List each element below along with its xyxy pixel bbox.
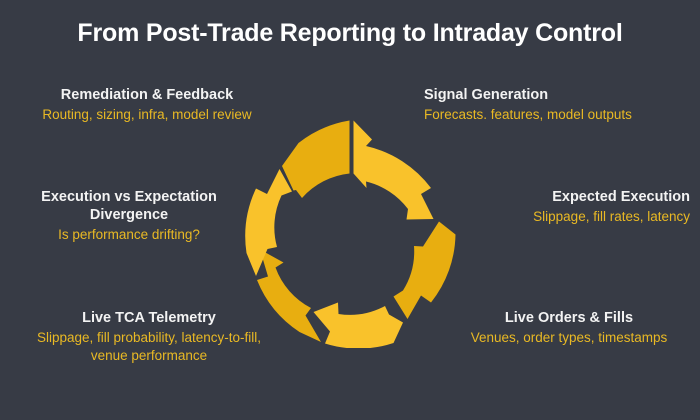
infographic-canvas: From Post-Trade Reporting to Intraday Co… bbox=[0, 0, 700, 420]
callout-orders-body: Venues, order types, timestamps bbox=[444, 329, 694, 347]
callout-tca: Live TCA Telemetry Slippage, fill probab… bbox=[18, 309, 280, 365]
wheel-segment-expected-execution bbox=[394, 222, 456, 320]
callout-divergence: Execution vs Expectation Divergence Is p… bbox=[8, 188, 250, 244]
callout-remediation-heading: Remediation & Feedback bbox=[18, 86, 276, 104]
callout-signal-body: Forecasts. features, model outputs bbox=[424, 106, 686, 124]
wheel-segment-remediation bbox=[282, 121, 350, 199]
callout-expected-execution-body: Slippage, fill rates, latency bbox=[452, 208, 690, 226]
callout-orders-heading: Live Orders & Fills bbox=[444, 309, 694, 327]
callout-expected-execution-heading: Expected Execution bbox=[452, 188, 690, 206]
callout-expected-execution: Expected Execution Slippage, fill rates,… bbox=[452, 188, 690, 226]
callout-divergence-heading: Execution vs Expectation Divergence bbox=[8, 188, 250, 224]
callout-signal: Signal Generation Forecasts. features, m… bbox=[424, 86, 686, 124]
callout-orders: Live Orders & Fills Venues, order types,… bbox=[444, 309, 694, 347]
callout-signal-heading: Signal Generation bbox=[424, 86, 686, 104]
wheel-segment-signal bbox=[354, 121, 434, 220]
callout-divergence-body: Is performance drifting? bbox=[8, 226, 250, 244]
callout-tca-heading: Live TCA Telemetry bbox=[18, 309, 280, 327]
callout-remediation: Remediation & Feedback Routing, sizing, … bbox=[18, 86, 276, 124]
wheel-segment-orders bbox=[314, 303, 404, 349]
page-title: From Post-Trade Reporting to Intraday Co… bbox=[0, 18, 700, 48]
callout-tca-body: Slippage, fill probability, latency-to-f… bbox=[18, 329, 280, 365]
callout-remediation-body: Routing, sizing, infra, model review bbox=[18, 106, 276, 124]
